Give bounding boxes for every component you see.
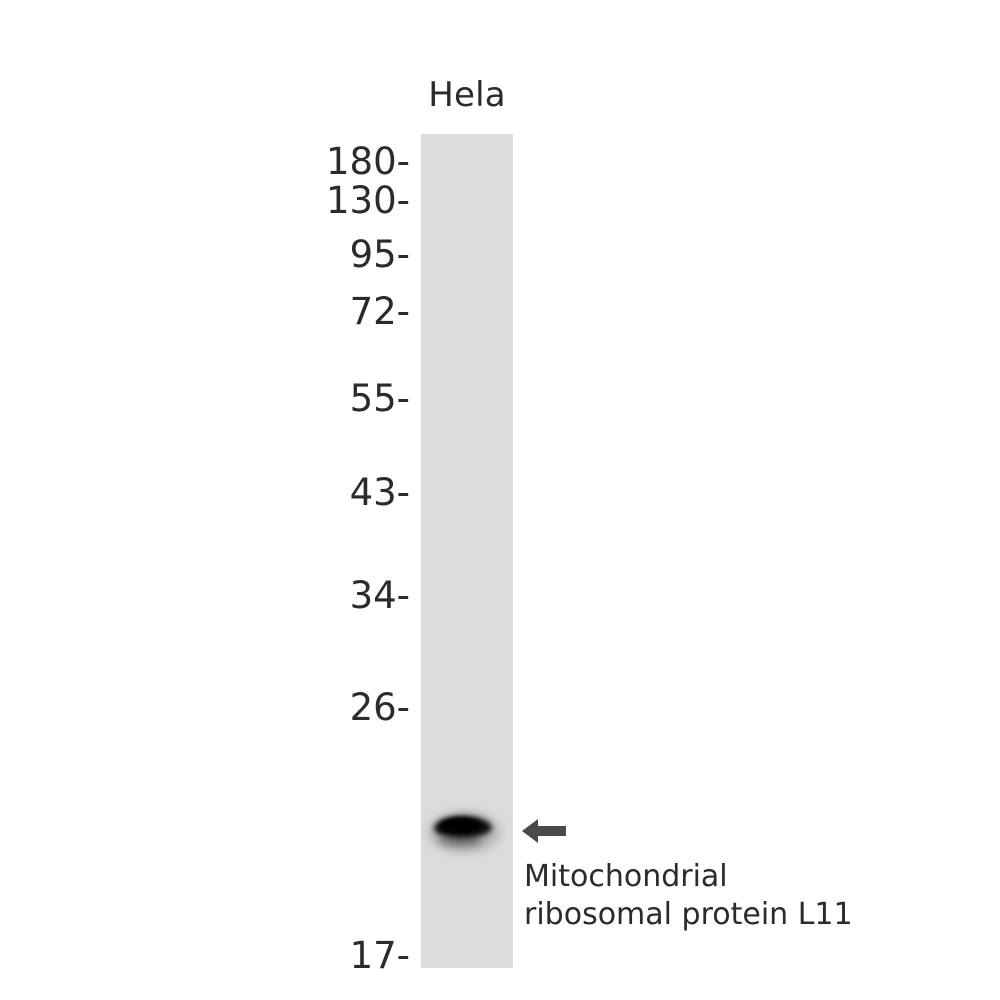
- target-protein-caption-line-2: ribosomal protein L11: [524, 896, 944, 934]
- mw-marker-17-label: 17-: [350, 937, 410, 974]
- mw-marker-72-label: 72-: [350, 293, 410, 330]
- mw-marker-95-label: 95-: [350, 236, 410, 273]
- mw-marker-43: 43-: [350, 470, 410, 514]
- mw-marker-130-label: 130-: [326, 182, 410, 219]
- mw-marker-130: 130-: [326, 178, 410, 222]
- mw-marker-180-label: 180-: [326, 143, 410, 180]
- mw-marker-55-label: 55-: [350, 380, 410, 417]
- mw-marker-34: 34-: [350, 573, 410, 617]
- western-blot-figure: Hela 180- 130- 95- 72- 55- 43- 34- 26-: [0, 0, 1000, 1000]
- protein-band-center: [441, 818, 481, 833]
- left-arrow-icon: [521, 816, 567, 846]
- mw-marker-43-label: 43-: [350, 474, 410, 511]
- mw-marker-17: 17-: [350, 933, 410, 977]
- mw-marker-34-label: 34-: [350, 577, 410, 614]
- protein-band: [421, 795, 513, 871]
- target-protein-caption: Mitochondrial ribosomal protein L11: [524, 858, 944, 934]
- mw-marker-72: 72-: [350, 289, 410, 333]
- mw-marker-55: 55-: [350, 376, 410, 420]
- molecular-weight-ladder: 180- 130- 95- 72- 55- 43- 34- 26- 17-: [300, 0, 410, 1000]
- lane-header-label: Hela: [411, 75, 523, 115]
- mw-marker-180: 180-: [326, 139, 410, 183]
- mw-marker-26: 26-: [350, 685, 410, 729]
- mw-marker-26-label: 26-: [350, 689, 410, 726]
- mw-marker-95: 95-: [350, 232, 410, 276]
- target-protein-caption-line-1: Mitochondrial: [524, 858, 944, 896]
- protein-band-smear: [437, 836, 481, 846]
